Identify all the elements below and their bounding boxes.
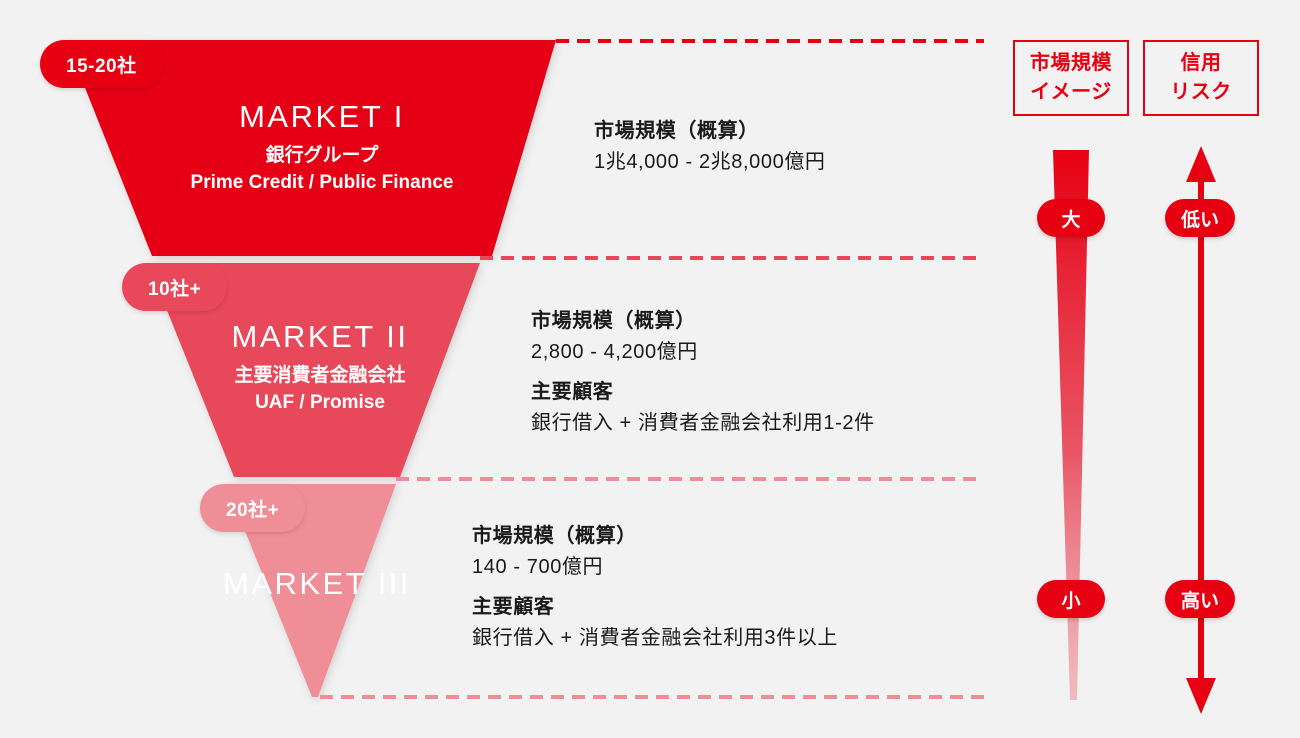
market-title-3: MARKET III <box>147 565 487 602</box>
divider-line-top <box>556 39 984 43</box>
scale-pill-risk-high: 高い <box>1165 580 1235 618</box>
market-subtitle-1-line1: 銀行グループ <box>152 143 492 170</box>
market-size-value-2: 2,800 - 4,200億円 <box>531 337 875 368</box>
scale-pill-size-large: 大 <box>1037 199 1105 237</box>
customer-label-2: 主要顧客 <box>531 377 875 408</box>
market-label-2: MARKET II 主要消費者金融会社 UAF / Promise <box>150 318 490 417</box>
market-subtitle-2: 主要消費者金融会社 UAF / Promise <box>150 363 490 417</box>
badge-label: 15-20社 <box>66 51 137 78</box>
company-count-badge-market-1: 15-20社 <box>40 40 163 88</box>
customer-value-2: 銀行借入 + 消費者金融会社利用1-2件 <box>531 408 875 439</box>
market-size-label-3: 市場規模（概算） <box>472 521 838 552</box>
market-label-1: MARKET I 銀行グループ Prime Credit / Public Fi… <box>152 98 492 197</box>
description-market-2: 市場規模（概算） 2,800 - 4,200億円 主要顧客 銀行借入 + 消費者… <box>531 306 875 439</box>
infographic-canvas: 15-20社 10社+ 20社+ MARKET I 銀行グループ Prime C… <box>0 0 1300 738</box>
legend-market-size-line1: 市場規模 <box>1030 49 1112 78</box>
market-subtitle-2-line1: 主要消費者金融会社 <box>150 363 490 390</box>
legend-credit-risk-line1: 信用 <box>1181 49 1222 78</box>
market-subtitle-1-line2: Prime Credit / Public Finance <box>152 170 492 197</box>
market-size-value-1: 1兆4,000 - 2兆8,000億円 <box>594 147 826 178</box>
market-label-3: MARKET III <box>147 565 487 602</box>
scale-pill-risk-low: 低い <box>1165 199 1235 237</box>
customer-label-3: 主要顧客 <box>472 592 838 623</box>
scale-pill-size-small-label: 小 <box>1061 586 1080 613</box>
company-count-badge-market-3: 20社+ <box>200 484 305 532</box>
market-title-1: MARKET I <box>152 98 492 135</box>
company-count-badge-market-2: 10社+ <box>122 263 227 311</box>
description-market-3: 市場規模（概算） 140 - 700億円 主要顧客 銀行借入 + 消費者金融会社… <box>472 521 838 654</box>
divider-line-market2-market3 <box>396 477 984 481</box>
badge-label: 10社+ <box>148 274 201 301</box>
badge-label: 20社+ <box>226 495 279 522</box>
legend-box-credit-risk: 信用 リスク <box>1143 40 1259 116</box>
market-subtitle-1: 銀行グループ Prime Credit / Public Finance <box>152 143 492 197</box>
scale-pill-risk-high-label: 高い <box>1181 586 1219 613</box>
legend-box-market-size: 市場規模 イメージ <box>1013 40 1129 116</box>
legend-market-size-line2: イメージ <box>1030 78 1112 107</box>
market-title-2: MARKET II <box>150 318 490 355</box>
scale-pill-risk-low-label: 低い <box>1181 205 1219 232</box>
market-size-label-1: 市場規模（概算） <box>594 116 826 147</box>
legend-credit-risk-line2: リスク <box>1170 78 1232 107</box>
scale-pill-size-small: 小 <box>1037 580 1105 618</box>
market-size-value-3: 140 - 700億円 <box>472 552 838 583</box>
divider-line-bottom <box>320 695 984 699</box>
market-size-label-2: 市場規模（概算） <box>531 306 875 337</box>
market-subtitle-2-line2: UAF / Promise <box>150 390 490 417</box>
customer-value-3: 銀行借入 + 消費者金融会社利用3件以上 <box>472 623 838 654</box>
divider-line-market1-market2 <box>480 256 984 260</box>
scale-pill-size-large-label: 大 <box>1061 205 1080 232</box>
description-market-1: 市場規模（概算） 1兆4,000 - 2兆8,000億円 <box>594 116 826 178</box>
